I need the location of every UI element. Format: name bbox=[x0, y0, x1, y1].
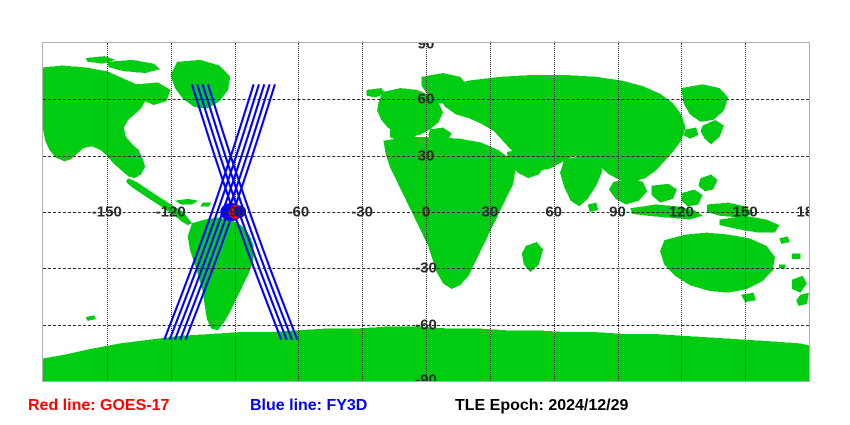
satellite-track-map-page: -300306090120150180-150-120-90-60 906030… bbox=[0, 0, 850, 425]
world-map: -300306090120150180-150-120-90-60 906030… bbox=[42, 42, 810, 382]
world-landmass-layer bbox=[43, 43, 809, 381]
legend-tle-epoch-label: TLE Epoch: 2024/12/29 bbox=[455, 398, 628, 414]
map-canvas: -300306090120150180-150-120-90-60 906030… bbox=[43, 43, 809, 381]
legend: Red line: GOES-17 Blue line: FY3D TLE Ep… bbox=[0, 392, 850, 425]
legend-blue-line-label: Blue line: FY3D bbox=[250, 398, 367, 414]
land-polygons bbox=[43, 56, 809, 381]
legend-red-line-label: Red line: GOES-17 bbox=[28, 398, 169, 414]
